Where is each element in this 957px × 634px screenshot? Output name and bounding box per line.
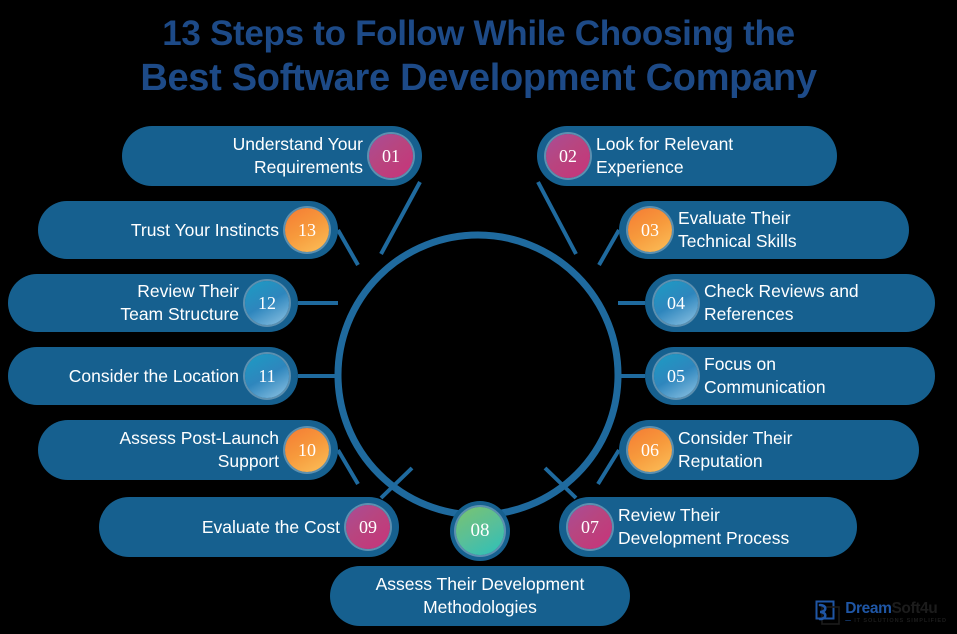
- step-04-badge: 04: [654, 281, 698, 325]
- connector-line-01: [381, 182, 420, 254]
- title-line-2: Best Software Development Company: [0, 56, 957, 100]
- step-13-label: Trust Your Instincts: [38, 219, 285, 242]
- connector-line-03: [599, 230, 619, 265]
- connector-line-02: [538, 182, 576, 254]
- logo-mark-icon: [815, 600, 841, 626]
- center-hub-circle: [338, 235, 618, 515]
- logo-tagline: — IT SOLUTIONS SIMPLIFIED: [845, 619, 947, 625]
- step-pill-02[interactable]: 02Look for Relevant Experience: [537, 126, 837, 186]
- step-pill-04[interactable]: 04Check Reviews and References: [645, 274, 935, 332]
- step-09-label: Evaluate the Cost: [99, 516, 346, 539]
- step-pill-11[interactable]: 11Consider the Location: [8, 347, 298, 405]
- step-01-badge: 01: [369, 134, 413, 178]
- step-pill-08[interactable]: Assess Their Development Methodologies: [330, 566, 630, 626]
- step-pill-03[interactable]: 03Evaluate Their Technical Skills: [619, 201, 909, 259]
- step-pill-05[interactable]: 05Focus on Communication: [645, 347, 935, 405]
- step-pill-10[interactable]: 10Assess Post-Launch Support: [38, 420, 338, 480]
- step-10-badge: 10: [285, 428, 329, 472]
- step-05-label: Focus on Communication: [698, 353, 935, 399]
- logo-word-part1: Dream: [845, 600, 891, 617]
- step-04-label: Check Reviews and References: [698, 280, 935, 326]
- title-line-1: 13 Steps to Follow While Choosing the: [0, 12, 957, 56]
- step-06-badge: 06: [628, 428, 672, 472]
- connector-line-10: [338, 450, 358, 484]
- connector-line-06: [598, 450, 619, 484]
- step-09-badge: 09: [346, 505, 390, 549]
- step-05-badge: 05: [654, 354, 698, 398]
- step-13-badge: 13: [285, 208, 329, 252]
- step-pill-09[interactable]: 09Evaluate the Cost: [99, 497, 399, 557]
- step-06-label: Consider Their Reputation: [672, 427, 919, 473]
- step-12-label: Review Their Team Structure: [8, 280, 245, 326]
- step-08-badge-number: 08: [456, 507, 504, 555]
- step-pill-01[interactable]: 01Understand Your Requirements: [122, 126, 422, 186]
- step-01-label: Understand Your Requirements: [122, 133, 369, 179]
- step-11-label: Consider the Location: [8, 365, 245, 388]
- step-03-badge: 03: [628, 208, 672, 252]
- step-03-label: Evaluate Their Technical Skills: [672, 207, 909, 253]
- page-title: 13 Steps to Follow While Choosing the Be…: [0, 12, 957, 100]
- step-12-badge: 12: [245, 281, 289, 325]
- step-08-label: Assess Their Development Methodologies: [330, 573, 630, 619]
- step-02-label: Look for Relevant Experience: [590, 133, 837, 179]
- step-pill-07[interactable]: 07Review Their Development Process: [559, 497, 857, 557]
- brand-logo[interactable]: DreamSoft4u — IT SOLUTIONS SIMPLIFIED: [815, 600, 947, 626]
- infographic-canvas: 13 Steps to Follow While Choosing the Be…: [0, 0, 957, 634]
- connector-line-13: [338, 230, 358, 265]
- step-07-badge: 07: [568, 505, 612, 549]
- step-10-label: Assess Post-Launch Support: [38, 427, 285, 473]
- step-pill-06[interactable]: 06Consider Their Reputation: [619, 420, 919, 480]
- step-11-badge: 11: [245, 354, 289, 398]
- step-pill-12[interactable]: 12Review Their Team Structure: [8, 274, 298, 332]
- step-07-label: Review Their Development Process: [612, 504, 857, 550]
- step-02-badge: 02: [546, 134, 590, 178]
- logo-wordmark: DreamSoft4u: [845, 601, 947, 617]
- step-08-badge-ring[interactable]: 08: [450, 501, 510, 561]
- logo-word-part2: Soft4u: [891, 600, 937, 617]
- step-pill-13[interactable]: 13Trust Your Instincts: [38, 201, 338, 259]
